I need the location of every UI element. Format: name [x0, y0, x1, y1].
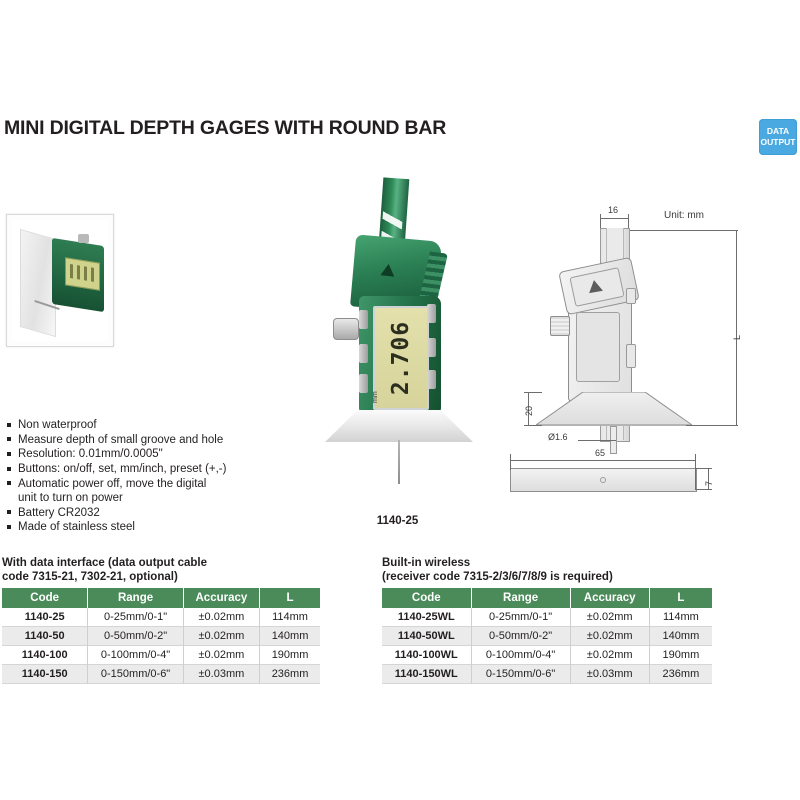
spec-table-right: Built-in wireless (receiver code 7315-2/…	[382, 557, 712, 684]
table-header-row: Code Range Accuracy L	[2, 588, 320, 608]
gage-button-left-3	[359, 374, 368, 393]
cell-length: 236mm	[649, 665, 712, 684]
gage-button-left-2	[359, 344, 368, 363]
cell-accuracy: ±0.03mm	[183, 665, 259, 684]
column-header-code: Code	[382, 588, 471, 608]
cell-code: 1140-50WL	[382, 627, 471, 646]
gage-lcd-illustration	[65, 257, 100, 291]
gage-button-right-1	[427, 304, 436, 323]
spec-table-right-title: Built-in wireless (receiver code 7315-2/…	[382, 557, 712, 584]
feature-item: Made of stainless steel	[6, 520, 296, 534]
dim-label-L: L	[732, 335, 742, 340]
spec-table-left: With data interface (data output cable c…	[2, 557, 320, 684]
cell-code: 1140-25	[2, 608, 88, 627]
dim-ext-thick-bottom	[696, 489, 712, 490]
spec-table-left-title: With data interface (data output cable c…	[2, 557, 320, 584]
table-row: 1140-50WL 0-50mm/0-2" ±0.02mm 140mm	[382, 627, 712, 646]
cell-range: 0-150mm/0-6"	[471, 665, 570, 684]
cell-length: 114mm	[260, 608, 320, 627]
cell-length: 114mm	[649, 608, 712, 627]
table-row: 1140-25 0-25mm/0-1" ±0.02mm 114mm	[2, 608, 320, 627]
feature-item: Measure depth of small groove and hole	[6, 433, 296, 447]
table-row: 1140-50 0-50mm/0-2" ±0.02mm 140mm	[2, 627, 320, 646]
table-row: 1140-150WL 0-150mm/0-6" ±0.03mm 236mm	[382, 665, 712, 684]
cell-length: 140mm	[260, 627, 320, 646]
dim-label-65: 65	[595, 448, 605, 458]
side-button-drawing-1	[626, 288, 636, 304]
cell-accuracy: ±0.02mm	[183, 608, 259, 627]
gage-button-left-1	[359, 310, 368, 329]
spec-table-right-title-line1: Built-in wireless	[382, 557, 712, 571]
column-header-range: Range	[471, 588, 570, 608]
dim-label-16: 16	[608, 205, 618, 215]
column-header-l: L	[260, 588, 320, 608]
table-row: 1140-25WL 0-25mm/0-1" ±0.02mm 114mm	[382, 608, 712, 627]
gage-button-right-3	[427, 370, 436, 389]
column-header-code: Code	[2, 588, 88, 608]
cell-accuracy: ±0.03mm	[570, 665, 649, 684]
base-outline	[536, 392, 692, 426]
lcd-display: 2.706 mm	[373, 306, 429, 410]
cell-code: 1140-25WL	[382, 608, 471, 627]
cell-code: 1140-50	[2, 627, 88, 646]
depth-rod-illustration	[398, 440, 400, 484]
feature-item: Resolution: 0.01mm/0.0005"	[6, 447, 296, 461]
badge-line-1: DATA	[767, 126, 789, 137]
table-row: 1140-100 0-100mm/0-4" ±0.02mm 190mm	[2, 646, 320, 665]
feature-text: Made of stainless steel	[18, 521, 135, 533]
cell-length: 190mm	[260, 646, 320, 665]
product-photo: 2.706 mm	[315, 178, 480, 478]
feature-text-continued: unit to turn on power	[18, 491, 296, 505]
table-row: 1140-100WL 0-100mm/0-4" ±0.02mm 190mm	[382, 646, 712, 665]
spec-table-left-title-line2: code 7315-21, 7302-21, optional)	[2, 571, 320, 585]
page-title: MINI DIGITAL DEPTH GAGES WITH ROUND BAR	[4, 117, 446, 140]
dim-line-plate-width	[510, 460, 695, 461]
catalog-page: MINI DIGITAL DEPTH GAGES WITH ROUND BAR …	[0, 0, 800, 800]
dim-line-rod-dia	[578, 440, 616, 441]
cell-accuracy: ±0.02mm	[183, 627, 259, 646]
cell-accuracy: ±0.02mm	[570, 608, 649, 627]
spec-table-right-title-line2: (receiver code 7315-2/3/6/7/8/9 is requi…	[382, 571, 712, 585]
cell-range: 0-25mm/0-1"	[88, 608, 183, 627]
application-photo	[6, 214, 114, 347]
cell-range: 0-50mm/0-2"	[88, 627, 183, 646]
feature-item: Non waterproof	[6, 418, 296, 432]
drawing-unit-label: Unit: mm	[664, 210, 704, 221]
feature-text: Buttons: on/off, set, mm/inch, preset (+…	[18, 463, 226, 475]
cell-code: 1140-150WL	[382, 665, 471, 684]
column-header-range: Range	[88, 588, 183, 608]
brand-triangle-icon	[587, 279, 603, 293]
brand-triangle-icon	[380, 263, 395, 276]
cell-accuracy: ±0.02mm	[183, 646, 259, 665]
clamp-knob-illustration	[333, 318, 359, 340]
bullet-square-icon	[7, 525, 11, 529]
cell-length: 140mm	[649, 627, 712, 646]
bullet-square-icon	[7, 467, 11, 471]
dim-ext-bottom-L	[686, 425, 738, 426]
feature-text: Non waterproof	[18, 419, 97, 431]
technical-drawing: Unit: mm 16 L 20	[500, 196, 800, 496]
cell-accuracy: ±0.02mm	[570, 646, 649, 665]
bullet-square-icon	[7, 481, 11, 485]
dim-line-height-L	[736, 230, 737, 426]
product-photo-caption: 1140-25	[315, 515, 480, 527]
workpiece-plate-illustration	[20, 229, 56, 337]
bullet-square-icon	[7, 423, 11, 427]
column-header-accuracy: Accuracy	[570, 588, 649, 608]
cell-length: 190mm	[649, 646, 712, 665]
feature-text: Resolution: 0.01mm/0.0005"	[18, 448, 163, 460]
lcd-window-drawing	[576, 312, 620, 382]
cell-range: 0-25mm/0-1"	[471, 608, 570, 627]
cell-range: 0-50mm/0-2"	[471, 627, 570, 646]
table-header-row: Code Range Accuracy L	[382, 588, 712, 608]
feature-item: Automatic power off, move the digital un…	[6, 477, 296, 505]
dim-label-7: 7	[704, 481, 714, 486]
spec-table-left-title-line1: With data interface (data output cable	[2, 557, 320, 571]
dim-ext-base-bottom-20	[524, 425, 542, 426]
clamp-knob-drawing	[550, 316, 570, 336]
cell-length: 236mm	[260, 665, 320, 684]
right-table: Code Range Accuracy L 1140-25WL 0-25mm/0…	[382, 588, 712, 684]
table-row: 1140-150 0-150mm/0-6" ±0.03mm 236mm	[2, 665, 320, 684]
dim-ext-plate-right	[695, 454, 696, 490]
cell-range: 0-100mm/0-4"	[471, 646, 570, 665]
dim-ext-plate-left	[510, 454, 511, 470]
bullet-square-icon	[7, 452, 11, 456]
badge-line-2: OUTPUT	[761, 137, 796, 148]
dim-label-20: 20	[524, 406, 534, 416]
dim-ext-top-L	[630, 230, 738, 231]
feature-text: Automatic power off, move the digital	[18, 478, 206, 490]
dim-line-width-16	[600, 218, 628, 219]
feature-list: Non waterproof Measure depth of small gr…	[6, 418, 296, 535]
gage-knob-illustration	[78, 234, 89, 243]
bullet-square-icon	[7, 437, 11, 441]
lcd-reading: 2.706	[388, 321, 414, 395]
feature-text: Battery CR2032	[18, 507, 100, 519]
base-plate-hole	[600, 477, 606, 483]
dim-ext-base-top-20	[524, 392, 542, 393]
cell-code: 1140-100WL	[382, 646, 471, 665]
data-output-badge: DATA OUTPUT	[759, 119, 797, 155]
feature-item: Battery CR2032	[6, 506, 296, 520]
dim-ext-thick-top	[696, 468, 712, 469]
gage-button-right-2	[427, 338, 436, 357]
cell-code: 1140-150	[2, 665, 88, 684]
column-header-l: L	[649, 588, 712, 608]
cell-code: 1140-100	[2, 646, 88, 665]
cell-range: 0-100mm/0-4"	[88, 646, 183, 665]
bullet-square-icon	[7, 510, 11, 514]
side-button-drawing-2	[626, 344, 636, 368]
left-table: Code Range Accuracy L 1140-25 0-25mm/0-1…	[2, 588, 320, 684]
column-header-accuracy: Accuracy	[183, 588, 259, 608]
cell-range: 0-150mm/0-6"	[88, 665, 183, 684]
cell-accuracy: ±0.02mm	[570, 627, 649, 646]
gage-base-illustration	[325, 410, 473, 442]
dim-label-rod-diameter: Ø1.6	[548, 432, 568, 442]
feature-item: Buttons: on/off, set, mm/inch, preset (+…	[6, 462, 296, 476]
feature-text: Measure depth of small groove and hole	[18, 434, 223, 446]
application-photo-inner	[12, 220, 108, 341]
dim-line-plate-thickness	[708, 468, 709, 490]
lcd-unit: mm	[372, 391, 379, 403]
